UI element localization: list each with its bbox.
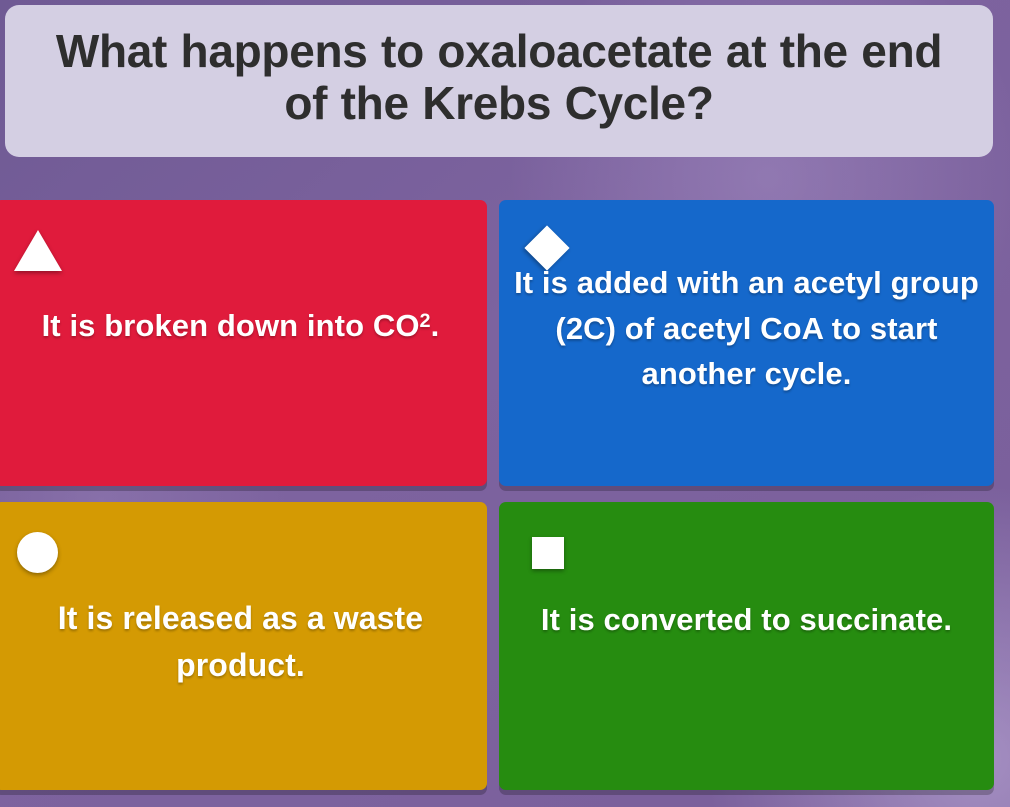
answer-text-red: It is broken down into CO2.	[0, 200, 487, 486]
answer-tile-gold[interactable]: It is released as a waste product.	[0, 502, 487, 790]
answer-tile-green[interactable]: It is converted to succinate.	[499, 502, 994, 790]
answer-tile-blue[interactable]: It is added with an acetyl group (2C) of…	[499, 200, 994, 486]
answer-grid: It is broken down into CO2. It is added …	[0, 200, 1010, 792]
answer-text-red-main: It is broken down into CO	[42, 303, 420, 349]
answer-text-red-tail: .	[431, 303, 440, 349]
answer-text-blue: It is added with an acetyl group (2C) of…	[499, 200, 994, 486]
answer-text-red-subscript: 2	[420, 307, 431, 336]
quiz-screen: What happens to oxaloacetate at the end …	[0, 0, 1010, 807]
question-text: What happens to oxaloacetate at the end …	[29, 26, 969, 130]
answer-text-gold: It is released as a waste product.	[0, 502, 487, 790]
question-card: What happens to oxaloacetate at the end …	[5, 5, 993, 157]
answer-tile-red[interactable]: It is broken down into CO2.	[0, 200, 487, 486]
answer-text-green: It is converted to succinate.	[499, 502, 994, 790]
